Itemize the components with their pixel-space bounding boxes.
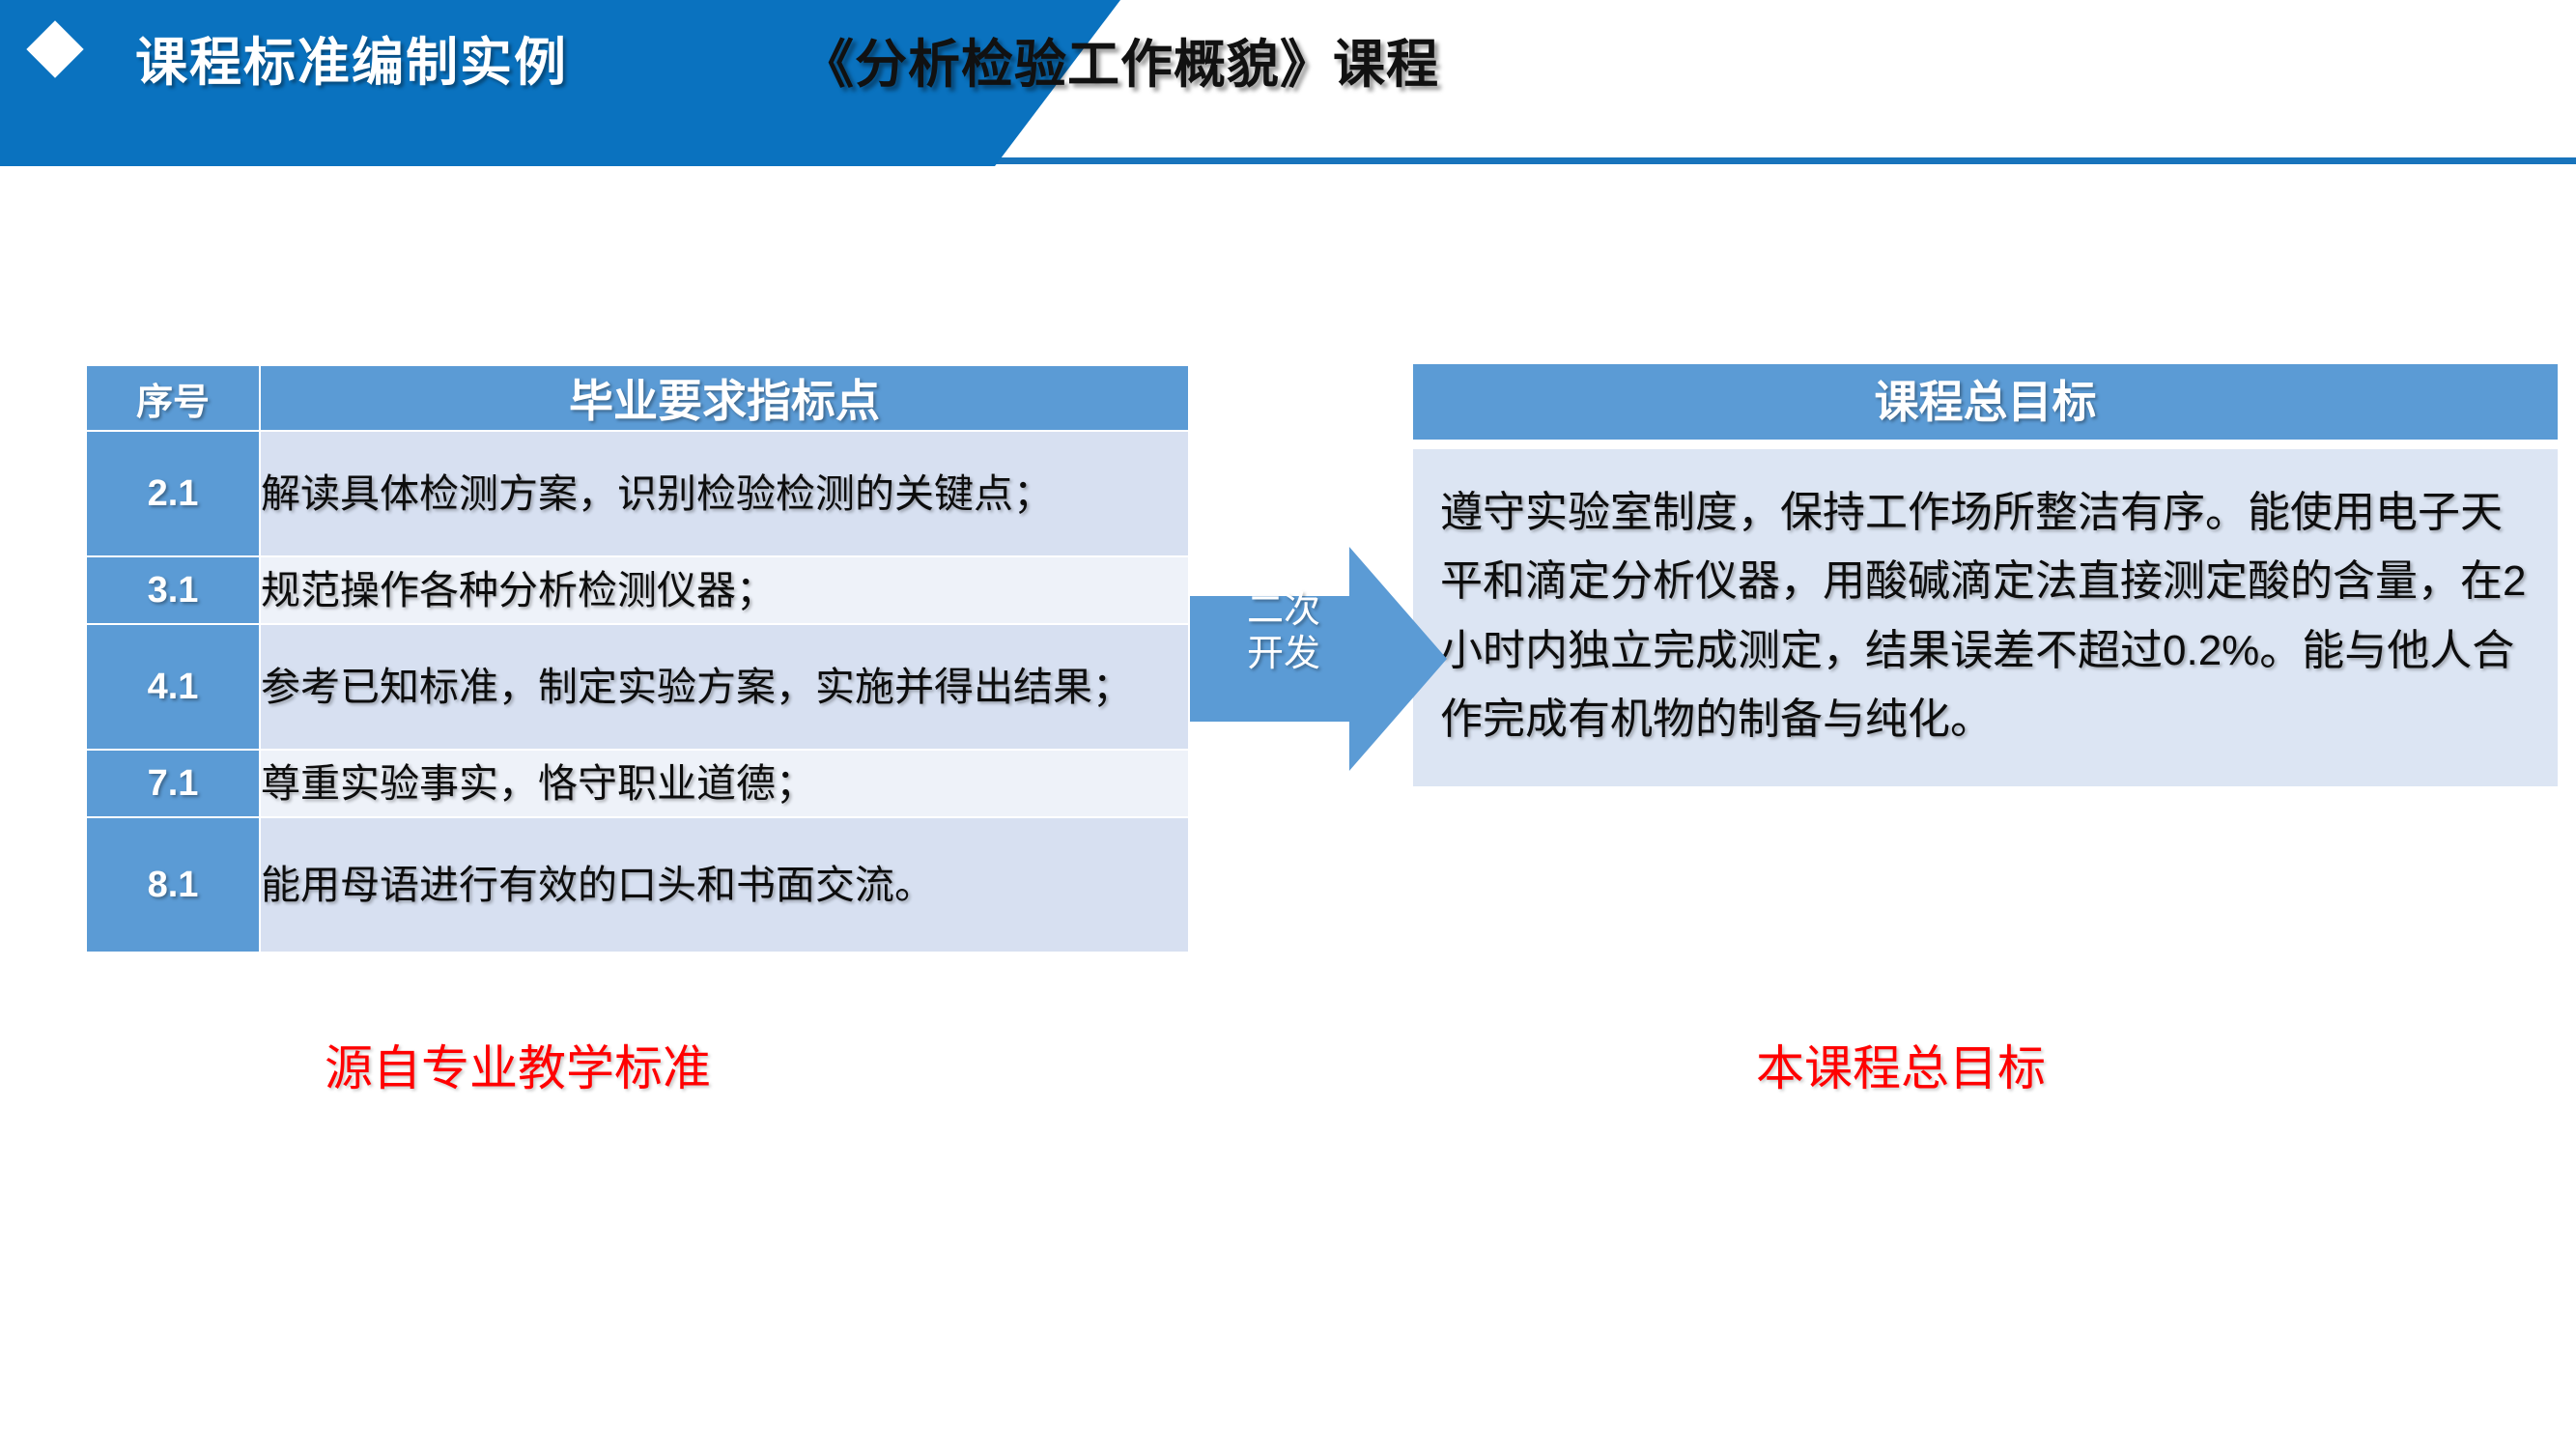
course-goal-panel: 课程总目标 遵守实验室制度，保持工作场所整洁有序。能使用电子天平和滴定分析仪器，… <box>1413 364 2558 786</box>
row-desc: 能用母语进行有效的口头和书面交流。 <box>260 817 1189 952</box>
table-row[interactable]: 7.1 尊重实验事实，恪守职业道德； <box>86 750 1189 817</box>
row-desc: 规范操作各种分析检测仪器； <box>260 556 1189 624</box>
course-goal-title: 课程总目标 <box>1413 364 2558 440</box>
left-source-caption: 源自专业教学标准 <box>325 1030 711 1099</box>
column-header-indicator: 毕业要求指标点 <box>260 365 1189 431</box>
row-desc: 参考已知标准，制定实验方案，实施并得出结果； <box>260 624 1189 750</box>
arrow-label: 二次 开发 <box>1211 589 1356 676</box>
arrow-label-line1: 二次 <box>1211 589 1356 633</box>
table-row[interactable]: 2.1 解读具体检测方案，识别检验检测的关键点； <box>86 431 1189 556</box>
table-row[interactable]: 3.1 规范操作各种分析检测仪器； <box>86 556 1189 624</box>
course-goal-body: 遵守实验室制度，保持工作场所整洁有序。能使用电子天平和滴定分析仪器，用酸碱滴定法… <box>1413 449 2558 786</box>
page-title-left: 课程标准编制实例 <box>135 19 568 96</box>
row-no: 8.1 <box>86 817 260 952</box>
column-header-no: 序号 <box>86 365 260 431</box>
row-no: 2.1 <box>86 431 260 556</box>
graduation-requirements-table: 序号 毕业要求指标点 2.1 解读具体检测方案，识别检验检测的关键点； 3.1 … <box>85 364 1190 953</box>
table-row[interactable]: 8.1 能用母语进行有效的口头和书面交流。 <box>86 817 1189 952</box>
right-goal-caption: 本课程总目标 <box>1756 1030 2046 1099</box>
row-desc: 解读具体检测方案，识别检验检测的关键点； <box>260 431 1189 556</box>
row-no: 4.1 <box>86 624 260 750</box>
row-desc: 尊重实验事实，恪守职业道德； <box>260 750 1189 817</box>
page-title-right: 《分析检验工作概貌》课程 <box>802 21 1439 98</box>
table-row[interactable]: 4.1 参考已知标准，制定实验方案，实施并得出结果； <box>86 624 1189 750</box>
row-no: 7.1 <box>86 750 260 817</box>
table-header-row: 序号 毕业要求指标点 <box>86 365 1189 431</box>
row-no: 3.1 <box>86 556 260 624</box>
arrow-label-line2: 开发 <box>1211 633 1356 676</box>
